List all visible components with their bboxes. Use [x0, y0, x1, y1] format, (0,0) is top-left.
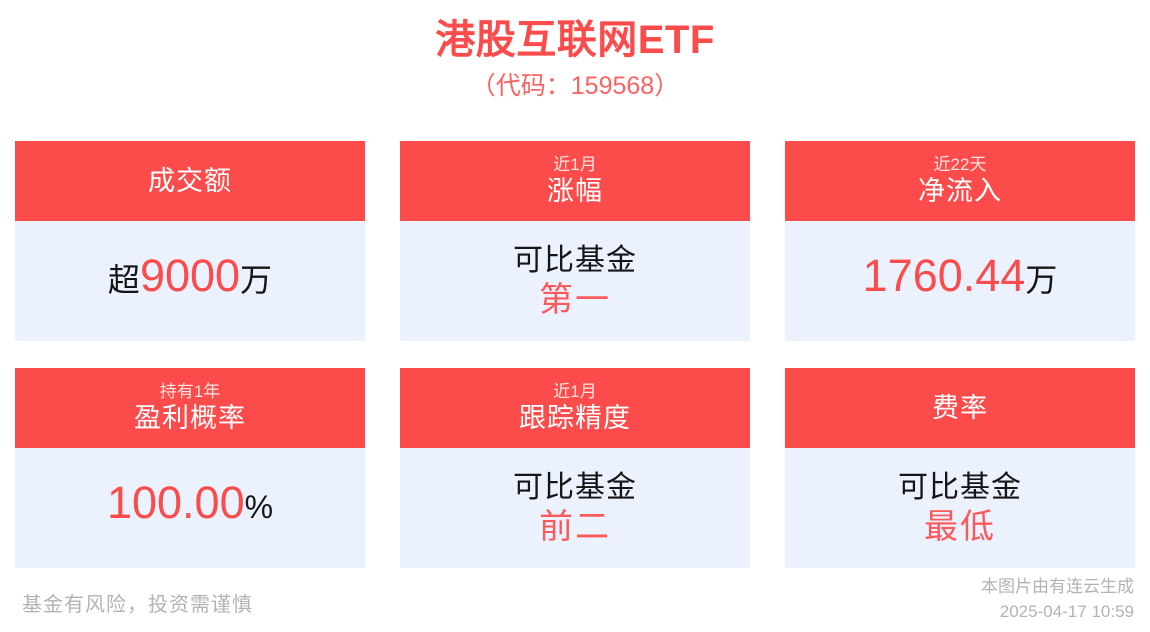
- page-title: 港股互联网ETF: [0, 14, 1150, 66]
- metric-card-body: 1760.44万: [785, 221, 1135, 341]
- metric-main-label: 跟踪精度: [519, 402, 631, 435]
- metric-card-tracking-accuracy[interactable]: 近1月 跟踪精度 可比基金 前二: [400, 368, 750, 568]
- metric-main-label: 净流入: [918, 175, 1002, 208]
- metric-card-body: 可比基金 第一: [400, 221, 750, 341]
- fund-code-subtitle: （代码：159568）: [0, 68, 1150, 104]
- metric-value-number: 9000: [140, 250, 240, 301]
- metric-sub-label: 近1月: [553, 154, 596, 175]
- metric-value: 超9000万: [108, 249, 272, 314]
- metric-card-header: 持有1年 盈利概率: [15, 368, 365, 448]
- metric-value-suffix: 万: [1025, 262, 1057, 298]
- page-header: 港股互联网ETF （代码：159568）: [0, 0, 1150, 104]
- metric-value-bottom: 第一: [539, 280, 611, 320]
- metric-card-header: 近1月 跟踪精度: [400, 368, 750, 448]
- metric-card-fee-rate[interactable]: 费率 可比基金 最低: [785, 368, 1135, 568]
- metric-main-label: 费率: [932, 392, 988, 425]
- metric-sub-label: 近1月: [553, 381, 596, 402]
- metric-card-turnover[interactable]: 成交额 超9000万: [15, 141, 365, 341]
- metric-value-bottom: 最低: [924, 507, 996, 547]
- metric-value-top: 可比基金: [898, 469, 1022, 507]
- credit-source: 本图片由有连云生成: [981, 574, 1134, 599]
- metric-card-body: 100.00%: [15, 448, 365, 568]
- metric-card-body: 可比基金 最低: [785, 448, 1135, 568]
- metric-card-body: 超9000万: [15, 221, 365, 341]
- metric-value-suffix: 万: [240, 262, 272, 298]
- metric-main-label: 成交额: [148, 165, 232, 198]
- metric-card-profit-probability[interactable]: 持有1年 盈利概率 100.00%: [15, 368, 365, 568]
- metric-card-header: 近1月 涨幅: [400, 141, 750, 221]
- metric-value-suffix: %: [245, 489, 273, 525]
- metric-value-number: 1760.44: [863, 250, 1026, 301]
- metric-value-number: 100.00: [107, 477, 245, 528]
- risk-disclaimer: 基金有风险，投资需谨慎: [22, 588, 253, 617]
- metric-card-monthly-gain[interactable]: 近1月 涨幅 可比基金 第一: [400, 141, 750, 341]
- metric-card-grid: 成交额 超9000万 近1月 涨幅 可比基金 第一 近22天 净流入 1760.…: [15, 141, 1135, 568]
- metric-value-bottom: 前二: [539, 507, 611, 547]
- metric-main-label: 盈利概率: [134, 402, 246, 435]
- generation-credit: 本图片由有连云生成 2025-04-17 10:59: [981, 574, 1134, 624]
- metric-value: 1760.44万: [863, 249, 1058, 314]
- metric-card-header: 费率: [785, 368, 1135, 448]
- metric-sub-label: 持有1年: [160, 381, 220, 402]
- metric-card-header: 近22天 净流入: [785, 141, 1135, 221]
- metric-value: 100.00%: [107, 476, 273, 541]
- credit-timestamp: 2025-04-17 10:59: [981, 599, 1134, 624]
- metric-value-prefix: 超: [108, 262, 140, 298]
- metric-value-top: 可比基金: [513, 242, 637, 280]
- metric-sub-label: 近22天: [934, 154, 987, 175]
- metric-main-label: 涨幅: [547, 175, 603, 208]
- metric-card-header: 成交额: [15, 141, 365, 221]
- page-footer: 基金有风险，投资需谨慎 本图片由有连云生成 2025-04-17 10:59: [0, 572, 1150, 632]
- metric-card-net-inflow[interactable]: 近22天 净流入 1760.44万: [785, 141, 1135, 341]
- metric-value-top: 可比基金: [513, 469, 637, 507]
- metric-card-body: 可比基金 前二: [400, 448, 750, 568]
